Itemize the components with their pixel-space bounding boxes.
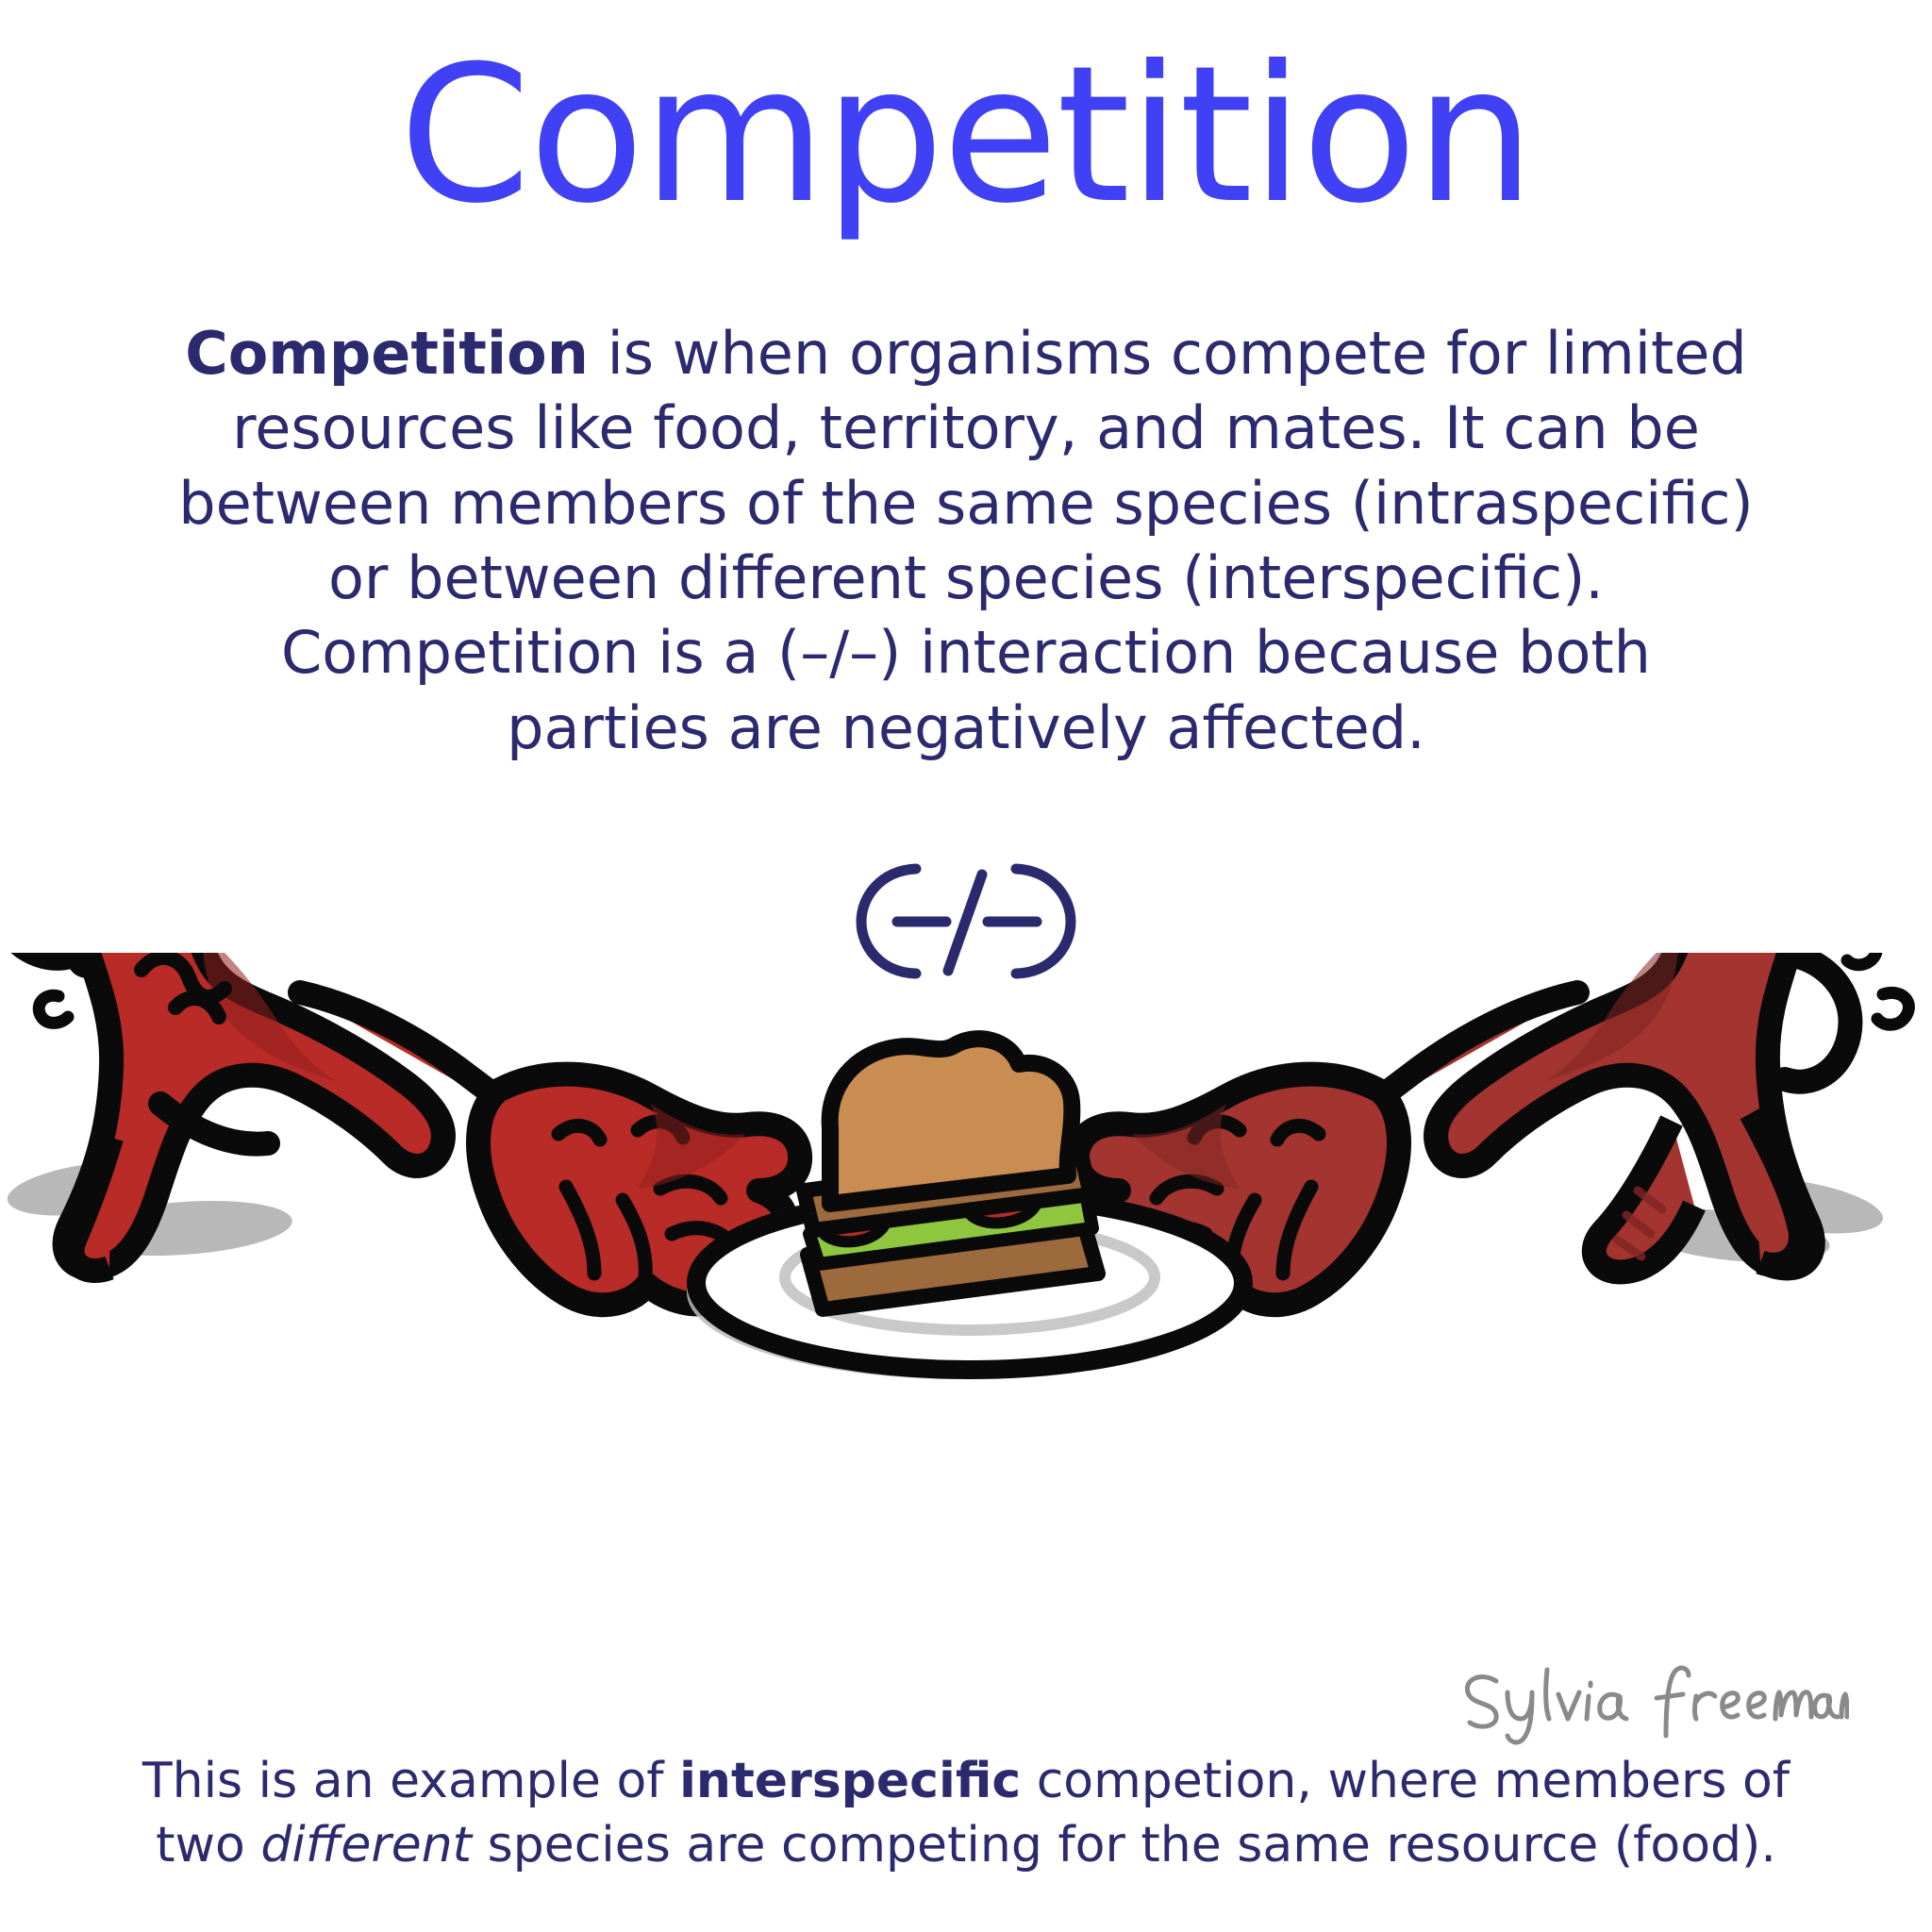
caption-line-1-b: competion, where members of <box>1021 1753 1790 1809</box>
caption-emphasis-different: different <box>260 1817 472 1874</box>
competition-illustration <box>0 953 1932 1717</box>
page-title: Competition <box>0 42 1932 230</box>
infographic-page: Competition Competition is when organism… <box>0 0 1932 1932</box>
definition-line-6: parties are negatively affected. <box>507 693 1425 762</box>
sandwich-top-bread <box>830 1039 1073 1204</box>
definition-line-4: or between different species (interspeci… <box>328 543 1604 612</box>
signature-icon <box>1453 1660 1849 1745</box>
definition-paragraph: Competition is when organisms compete fo… <box>142 316 1790 765</box>
caption-line-2: two different species are competing for … <box>156 1817 1776 1874</box>
definition-line-1: Competition is when organisms compete fo… <box>185 319 1747 388</box>
definition-line-5: Competition is a (–/–) interaction becau… <box>281 618 1651 687</box>
caption-line-1: This is an example of interspecific comp… <box>142 1753 1790 1809</box>
caption-line-2-b: species are competing for the same resou… <box>472 1817 1776 1874</box>
figure-caption: This is an example of interspecific comp… <box>113 1750 1819 1877</box>
definition-line-1-rest: is when organisms compete for limited <box>589 319 1747 388</box>
illustration-scene <box>0 953 1932 1717</box>
definition-term: Competition <box>185 319 589 388</box>
caption-emphasis-interspecific: interspecific <box>679 1753 1021 1809</box>
artist-signature <box>1453 1660 1849 1745</box>
definition-line-3: between members of the same species (int… <box>178 469 1753 538</box>
caption-line-1-a: This is an example of <box>142 1753 679 1809</box>
caption-line-2-a: two <box>156 1817 260 1874</box>
definition-line-2: resources like food, territory, and mate… <box>232 393 1700 462</box>
